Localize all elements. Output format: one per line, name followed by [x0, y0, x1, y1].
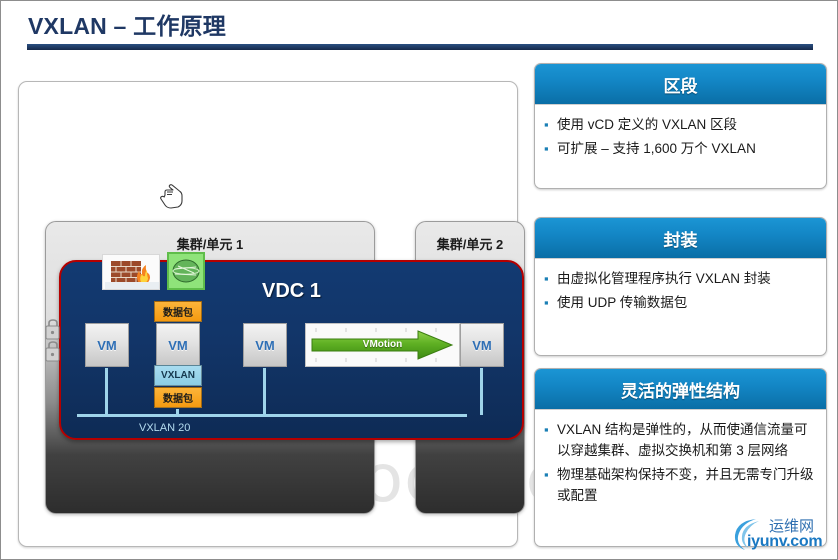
bullet-text: VXLAN 结构是弹性的，从而使通信流量可以穿越集群、虚拟交换机和第 3 层网络 — [557, 419, 816, 461]
title-block: VXLAN – 工作原理 — [1, 1, 838, 53]
bullet-item: ▪ 使用 vCD 定义的 VXLAN 区段 — [544, 114, 816, 135]
card-body: ▪ 由虚拟化管理程序执行 VXLAN 封装 ▪ 使用 UDP 传输数据包 — [535, 259, 826, 322]
vm-bus-drop — [263, 368, 266, 415]
cluster-label-1: 集群/单元 1 — [46, 234, 374, 253]
bullet-text: 可扩展 – 支持 1,600 万个 VXLAN — [557, 138, 756, 159]
bullet-text: 使用 vCD 定义的 VXLAN 区段 — [557, 114, 737, 135]
bullet-item: ▪ 使用 UDP 传输数据包 — [544, 292, 816, 313]
card-body: ▪ 使用 vCD 定义的 VXLAN 区段 ▪ 可扩展 – 支持 1,600 万… — [535, 105, 826, 168]
vm-bus-drop — [105, 368, 108, 415]
iyunv-url-label: iyunv.com — [747, 533, 822, 551]
vmotion-banner: VMotion — [305, 323, 460, 367]
card-header-label: 灵活的弹性结构 — [621, 377, 740, 402]
page-title: VXLAN – 工作原理 — [28, 7, 226, 41]
cluster-label-2: 集群/单元 2 — [416, 234, 524, 253]
info-card-encapsulation: 封装 ▪ 由虚拟化管理程序执行 VXLAN 封装 ▪ 使用 UDP 传输数据包 — [534, 217, 827, 356]
vxlan-bus-line — [77, 414, 467, 417]
bullet-square-icon: ▪ — [544, 138, 557, 159]
hand-cursor-icon — [159, 182, 185, 212]
bullet-text: 使用 UDP 传输数据包 — [557, 292, 687, 313]
title-underline-rule — [27, 44, 813, 50]
bullet-item: ▪ 物理基础架构保持不变，并且无需专门升级或配置 — [544, 464, 816, 506]
card-body: ▪ VXLAN 结构是弹性的，从而使通信流量可以穿越集群、虚拟交换机和第 3 层… — [535, 410, 826, 515]
card-header-label: 封装 — [664, 226, 698, 251]
padlock-icon — [44, 318, 62, 372]
vm-box: VM — [243, 323, 287, 367]
bullet-square-icon: ▪ — [544, 464, 557, 506]
bullet-square-icon: ▪ — [544, 419, 557, 461]
firewall-icon — [102, 254, 160, 290]
packet-tag: 数据包 — [154, 387, 202, 408]
diagram-panel: www.docin.com 集群/单元 1 集群/单元 2 VDC 1 — [18, 81, 518, 547]
card-header-label: 区段 — [664, 72, 698, 97]
iyunv-watermark: 运维网 iyunv.com — [725, 513, 833, 557]
bullet-square-icon: ▪ — [544, 292, 557, 313]
vm-box: VM — [85, 323, 129, 367]
bullet-square-icon: ▪ — [544, 114, 557, 135]
bullet-item: ▪ 由虚拟化管理程序执行 VXLAN 封装 — [544, 268, 816, 289]
bullet-item: ▪ 可扩展 – 支持 1,600 万个 VXLAN — [544, 138, 816, 159]
router-icon — [167, 252, 205, 290]
info-card-segments: 区段 ▪ 使用 vCD 定义的 VXLAN 区段 ▪ 可扩展 – 支持 1,60… — [534, 63, 827, 189]
vm-bus-drop — [480, 368, 483, 415]
card-header: 封装 — [535, 218, 826, 259]
vxlan-tag: VXLAN — [154, 365, 202, 386]
card-header: 灵活的弹性结构 — [535, 369, 826, 410]
vm-box: VM — [460, 323, 504, 367]
packet-tag: 数据包 — [154, 301, 202, 322]
bullet-text: 由虚拟化管理程序执行 VXLAN 封装 — [557, 268, 771, 289]
bullet-item: ▪ VXLAN 结构是弹性的，从而使通信流量可以穿越集群、虚拟交换机和第 3 层… — [544, 419, 816, 461]
vxlan-bus-label: VXLAN 20 — [139, 422, 190, 434]
card-header: 区段 — [535, 64, 826, 105]
bullet-text: 物理基础架构保持不变，并且无需专门升级或配置 — [557, 464, 816, 506]
vm-box: VM — [156, 323, 200, 367]
bullet-square-icon: ▪ — [544, 268, 557, 289]
vdc-label: VDC 1 — [262, 280, 321, 303]
slide-canvas: VXLAN – 工作原理 www.docin.com 集群/单元 1 集群/单元… — [0, 0, 838, 560]
